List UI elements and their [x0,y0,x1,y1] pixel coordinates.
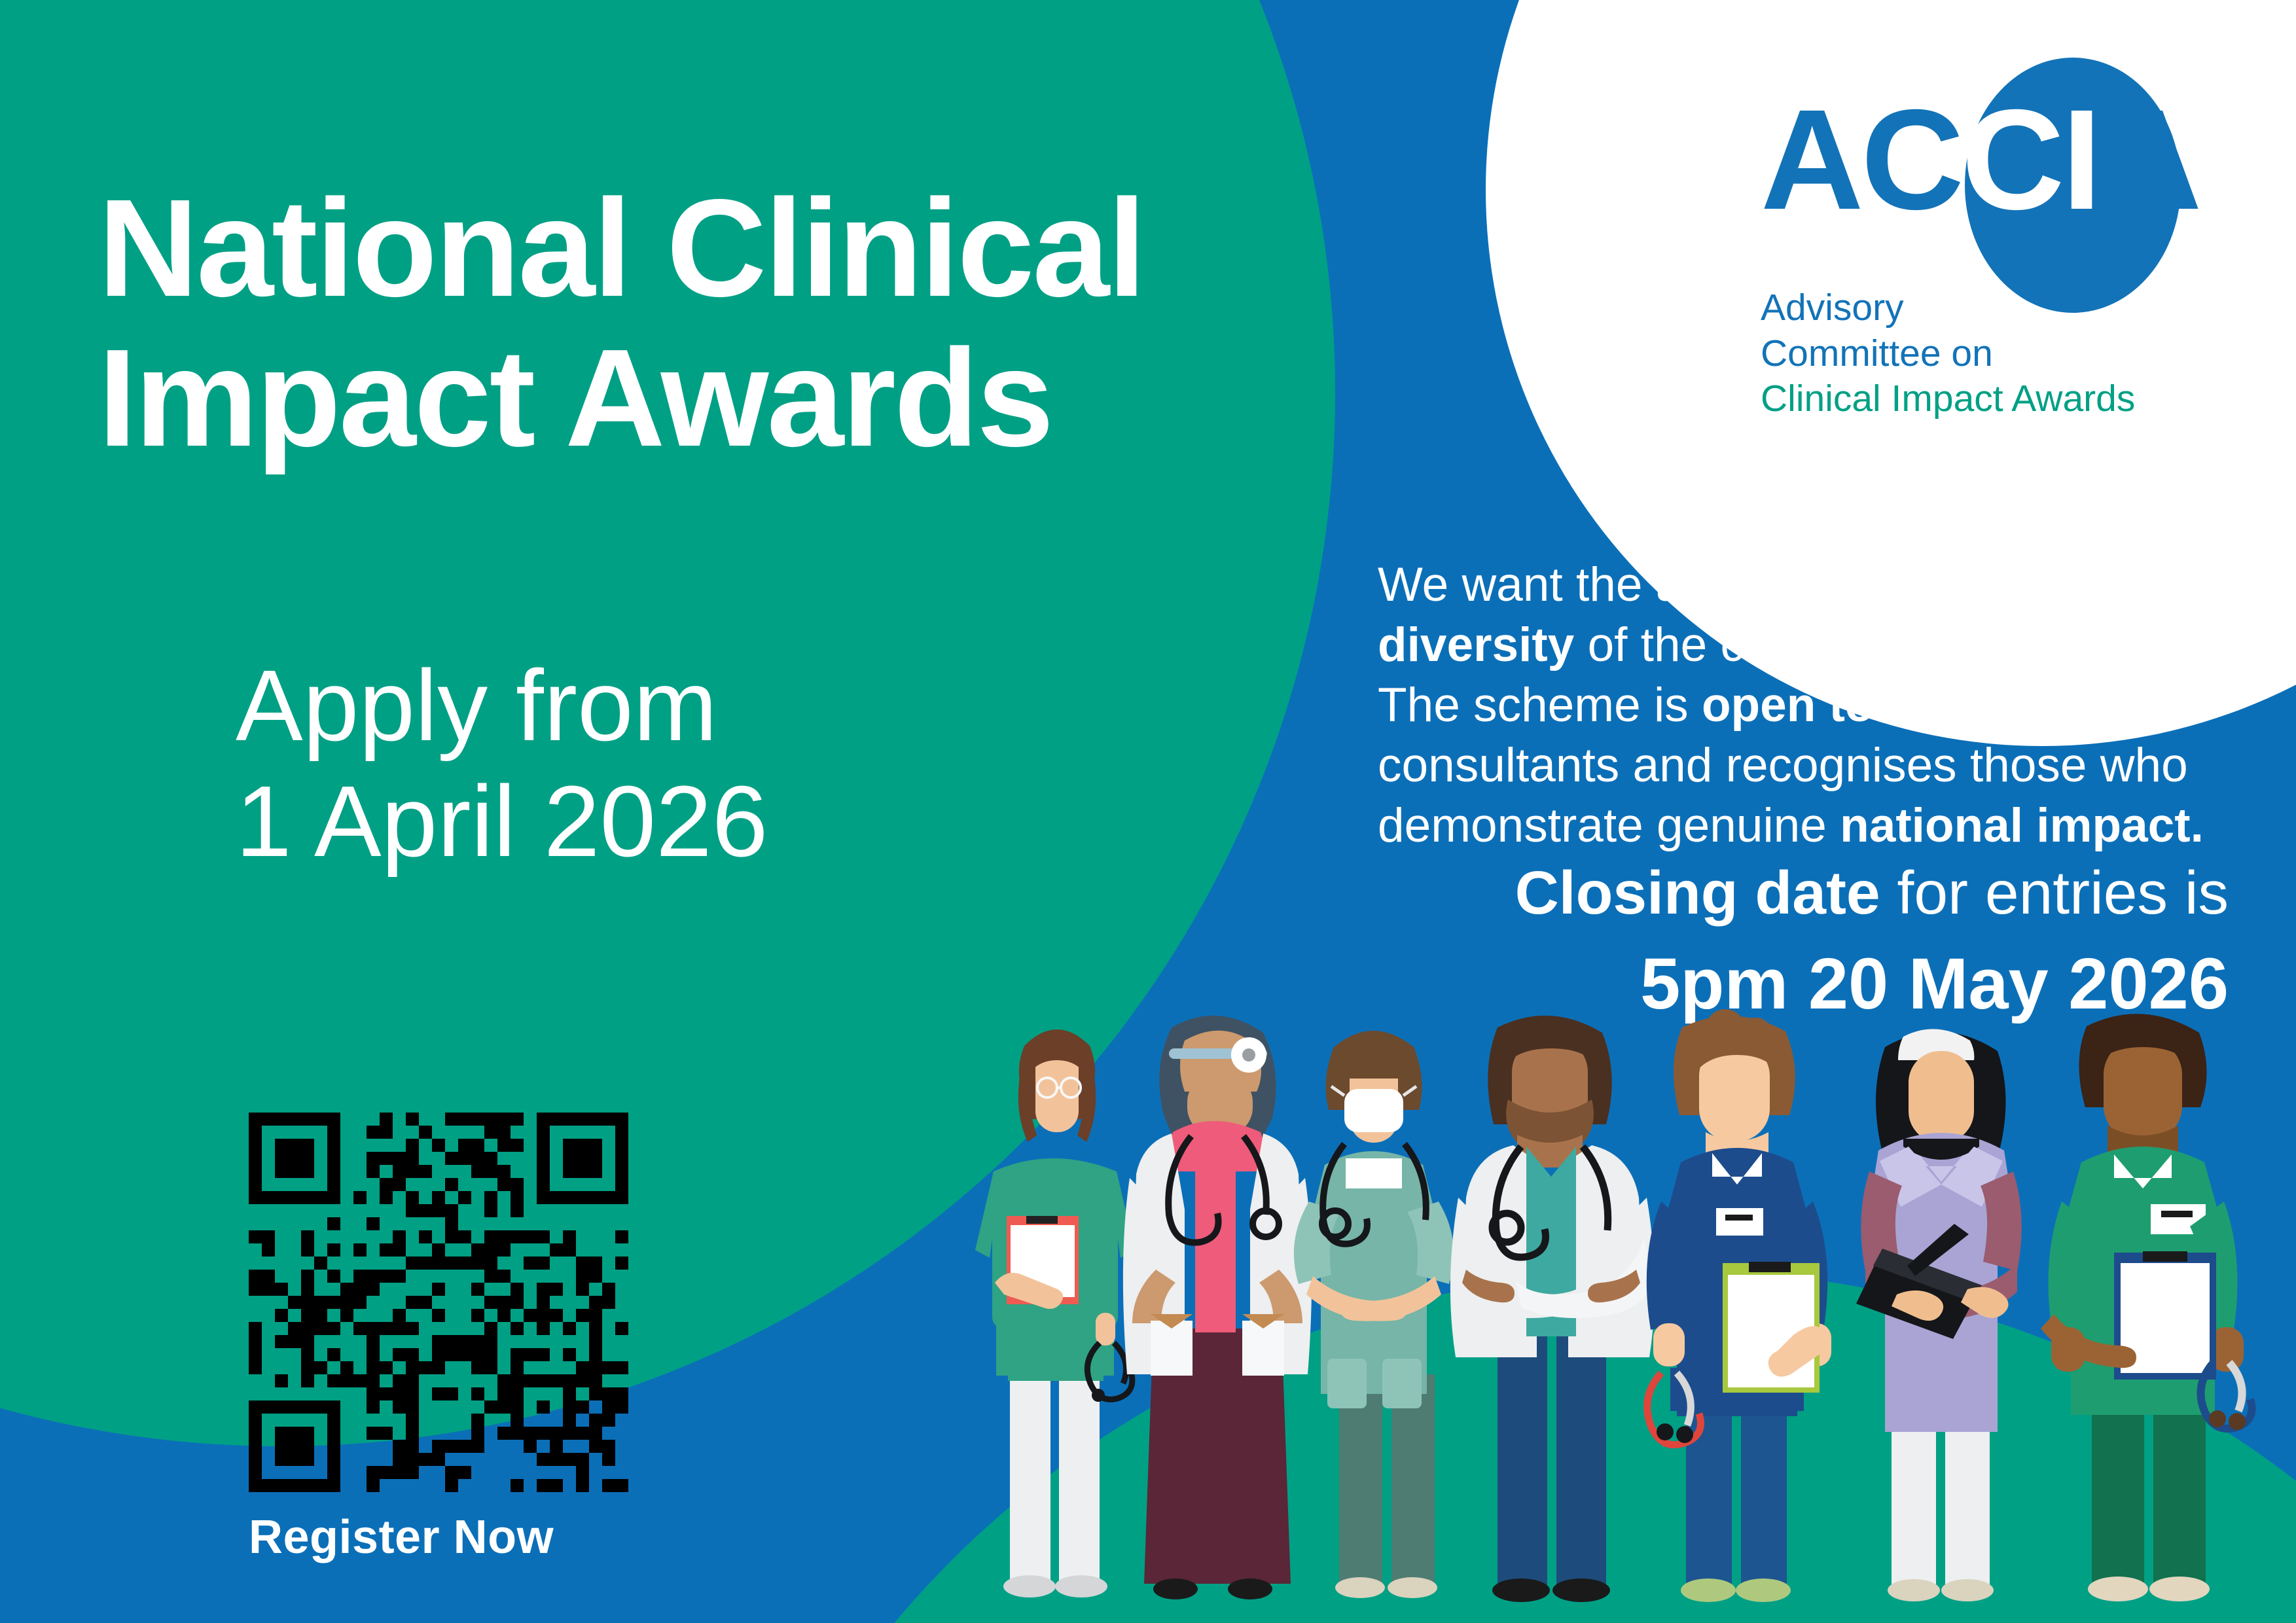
person-doctor-hijab-white-coat-headlamp [1123,1016,1312,1599]
page-title: National Clinical Impact Awards [98,173,1381,473]
accia-logo: ACCIA Advisory Committee on Clinical Imp… [1761,85,2258,422]
apply-window-text: Apply from 1 April 2026 [236,648,1217,880]
person-nurse-hijab-lilac-uniform-tablet [1856,1029,2022,1601]
accia-logo-subtitle: Advisory Committee on Clinical Impact Aw… [1761,285,2258,422]
closing-date-block: Closing date for entries is5pm 20 May 20… [1378,854,2229,1031]
person-doctor-white-coat-arms-crossed [1450,1016,1655,1602]
body-seg-1: We want the awards to reflect the [1378,558,2086,611]
person-nurse-navy-scrubs-clipboard-stethoscope [1647,1009,1831,1602]
register-now-label[interactable]: Register Now [249,1510,641,1564]
person-nurse-masked-teal-scrubs [1294,1031,1454,1598]
qr-code-block[interactable]: Register Now [249,1113,641,1564]
apply-line-1: Apply from [236,648,1217,764]
body-bold-diversity: diversity [1378,618,1574,671]
healthcare-workers-illustration [942,1008,2296,1623]
logo-sub-line-1: Advisory [1761,285,2258,331]
accia-wordmark: ACCIA [1761,85,2258,255]
accia-letters: ACCIA [1761,85,2258,236]
accia-letters-ci-knockout: CI [1962,80,2099,240]
logo-sub-line-3: Clinical Impact Awards [1761,376,2258,422]
person-nurse-green-scrubs-clipboard [2041,1014,2252,1601]
headline-line-2: Impact Awards [98,323,1381,473]
headline-line-1: National Clinical [98,173,1381,323]
body-bold-open-to-all: open to all [1702,679,1941,732]
closing-date-rest: for entries is [1880,859,2229,927]
body-copy-paragraph: We want the awards to reflect the divers… [1378,555,2222,856]
apply-line-2: 1 April 2026 [236,764,1217,880]
logo-sub-line-2: Committee on [1761,331,2258,377]
accia-letters-a: A [2099,80,2199,240]
poster-canvas: National Clinical Impact Awards Apply fr… [0,0,2296,1623]
body-bold-national-impact: national impact. [1840,799,2204,852]
closing-date-label: Closing date [1515,859,1880,927]
accia-letters-ac: AC [1761,80,1962,240]
qr-code-icon[interactable] [249,1113,628,1492]
person-nurse-green-scrubs-glasses-clipboard [975,1029,1135,1597]
